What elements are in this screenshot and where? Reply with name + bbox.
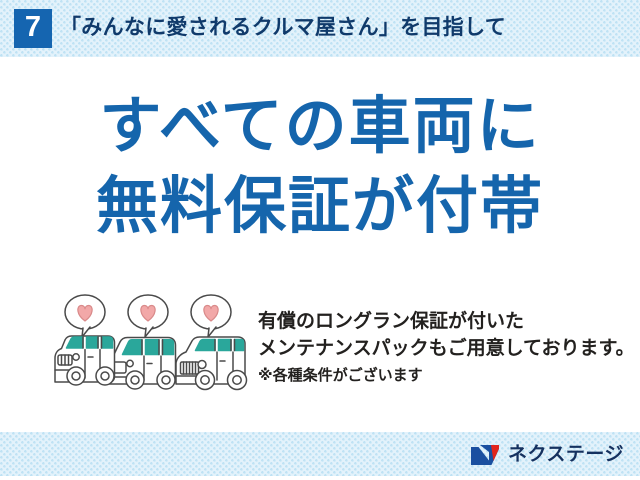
- header-title: 「みんなに愛されるクルマ屋さん」を目指して: [60, 13, 506, 43]
- body-copy-line-1: 有償のロングラン保証が付いた: [258, 308, 634, 335]
- promo-banner: 7 「みんなに愛されるクルマ屋さん」を目指して すべての車両に 無料保証が付帯: [0, 0, 640, 480]
- brand-name-label: ネクステージ: [508, 443, 624, 467]
- section-number-label: 7: [25, 13, 41, 42]
- car-minivan: [108, 338, 176, 390]
- speech-bubble-2: [128, 295, 168, 337]
- headline-line-2: 無料保証が付帯: [0, 176, 640, 238]
- footer-underline: [0, 476, 640, 480]
- nexstage-n-logo-icon: [469, 443, 501, 467]
- cars-illustration: [52, 292, 252, 392]
- body-copy-line-2: メンテナンスパックもご用意しております。: [258, 335, 634, 362]
- car-suv: [176, 337, 247, 390]
- speech-bubble-1: [65, 295, 105, 337]
- body-copy-note: ※各種条件がございます: [258, 364, 634, 388]
- body-copy-block: 有償のロングラン保証が付いた メンテナンスパックもご用意しております。 ※各種条…: [258, 308, 634, 388]
- headline-block: すべての車両に 無料保証が付帯: [0, 96, 640, 238]
- brand-logo: ネクステージ: [469, 442, 624, 468]
- cars-illustration-svg: [52, 292, 252, 392]
- section-number-badge: 7: [14, 9, 52, 48]
- car-kei-van: [55, 336, 115, 385]
- speech-bubble-3: [191, 295, 231, 337]
- headline-line-1: すべての車両に: [0, 96, 640, 158]
